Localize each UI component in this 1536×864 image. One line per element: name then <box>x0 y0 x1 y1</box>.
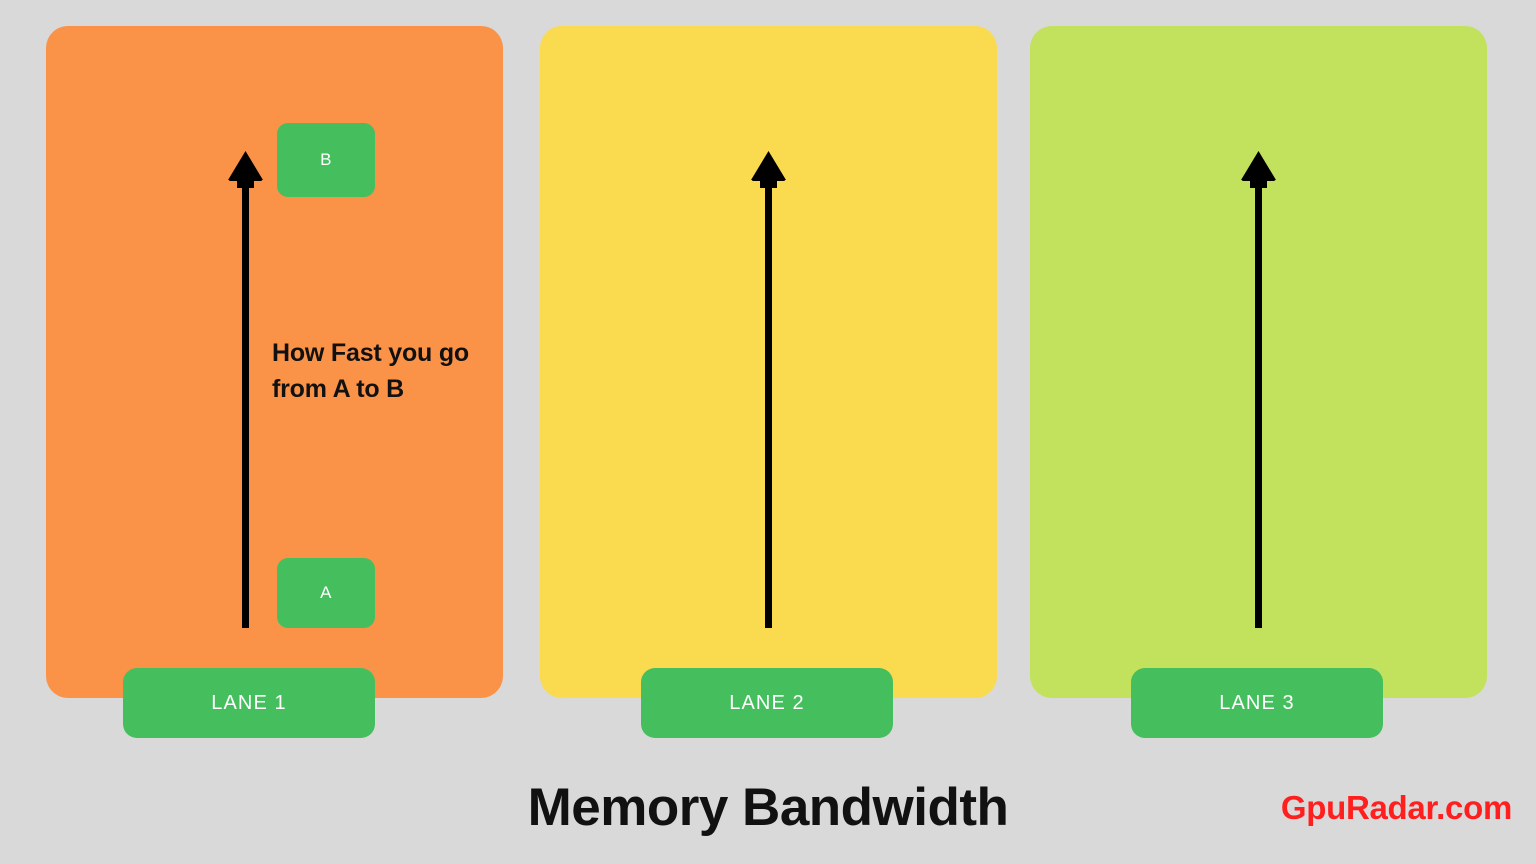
lane-label-text-3: LANE 3 <box>1219 692 1295 715</box>
lane-label-text-1: LANE 1 <box>211 692 287 715</box>
node-box-b[interactable]: B <box>277 123 375 197</box>
node-box-b-label: B <box>320 150 332 170</box>
lane-label-pill-1[interactable]: LANE 1 <box>123 668 375 738</box>
lane-1-caption: How Fast you go from A to B <box>272 336 512 407</box>
watermark-label: GpuRadar.com <box>1281 789 1512 827</box>
lane-panel-2 <box>540 26 997 698</box>
lane-label-pill-2[interactable]: LANE 2 <box>641 668 893 738</box>
lane-panel-3 <box>1030 26 1487 698</box>
diagram-canvas: B How Fast you go from A to B A LANE 1 L… <box>0 0 1536 864</box>
node-box-a-label: A <box>320 583 332 603</box>
node-box-a[interactable]: A <box>277 558 375 628</box>
lane-label-pill-3[interactable]: LANE 3 <box>1131 668 1383 738</box>
lane-label-text-2: LANE 2 <box>729 692 805 715</box>
